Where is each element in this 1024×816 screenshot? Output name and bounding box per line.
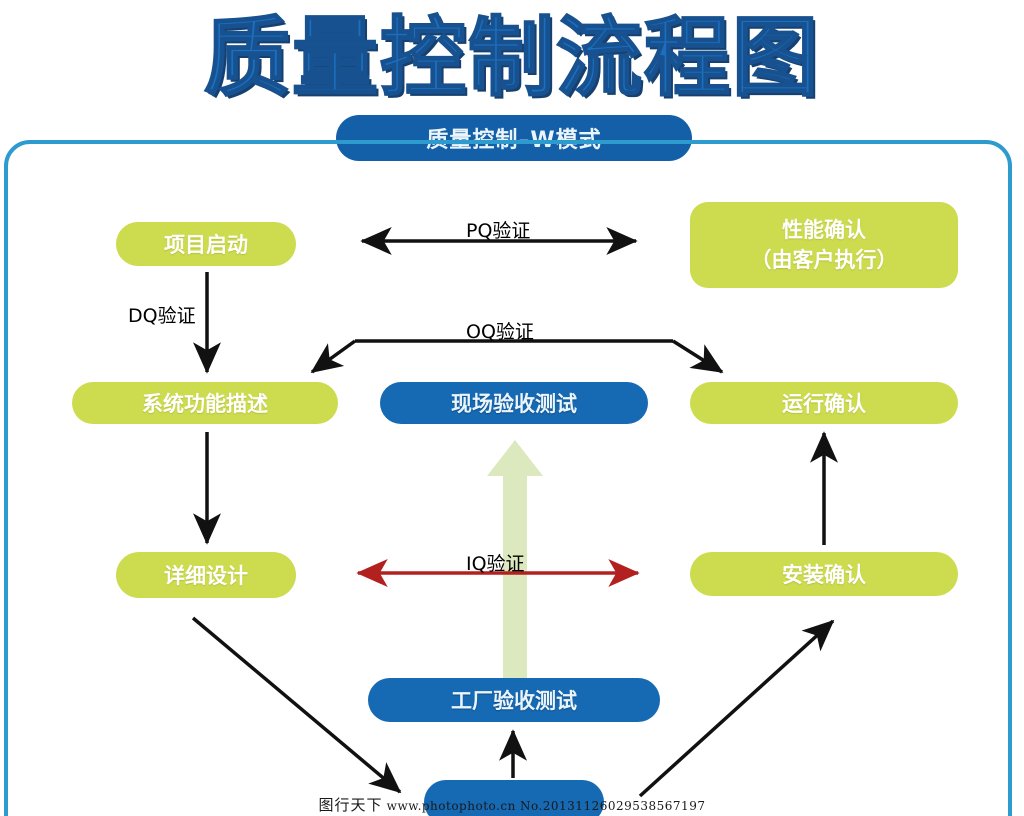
edge-label-pq: PQ验证 — [466, 216, 530, 243]
watermark-brand: 图行天下 — [319, 796, 383, 814]
node-system-function-description[interactable]: 系统功能描述 — [72, 382, 338, 424]
watermark: 图行天下 www.photophoto.cn No.20131126029538… — [0, 794, 1024, 815]
watermark-number: No.20131126029538567197 — [520, 799, 706, 813]
edge-label-oq: OQ验证 — [466, 317, 534, 344]
node-project-start[interactable]: 项目启动 — [116, 222, 296, 266]
node-performance-qualification[interactable]: 性能确认 （由客户执行） — [690, 202, 958, 288]
node-site-acceptance-test[interactable]: 现场验收测试 — [380, 382, 648, 424]
node-detailed-design[interactable]: 详细设计 — [116, 552, 296, 598]
node-operational-qualification[interactable]: 运行确认 — [690, 382, 958, 424]
watermark-url: www.photophoto.cn — [387, 799, 516, 813]
node-performance-qualification-line1: 性能确认 — [782, 215, 866, 245]
edge-label-iq: IQ验证 — [466, 549, 525, 576]
page-title: 质量控制流程图 — [0, 8, 1024, 108]
flowchart-page: 质量控制流程图 质量控制–W模式 — [0, 0, 1024, 816]
edge-label-dq: DQ验证 — [128, 301, 196, 328]
node-installation-qualification[interactable]: 安装确认 — [690, 552, 958, 596]
node-factory-acceptance-test[interactable]: 工厂验收测试 — [368, 678, 660, 722]
node-performance-qualification-line2: （由客户执行） — [751, 245, 898, 275]
